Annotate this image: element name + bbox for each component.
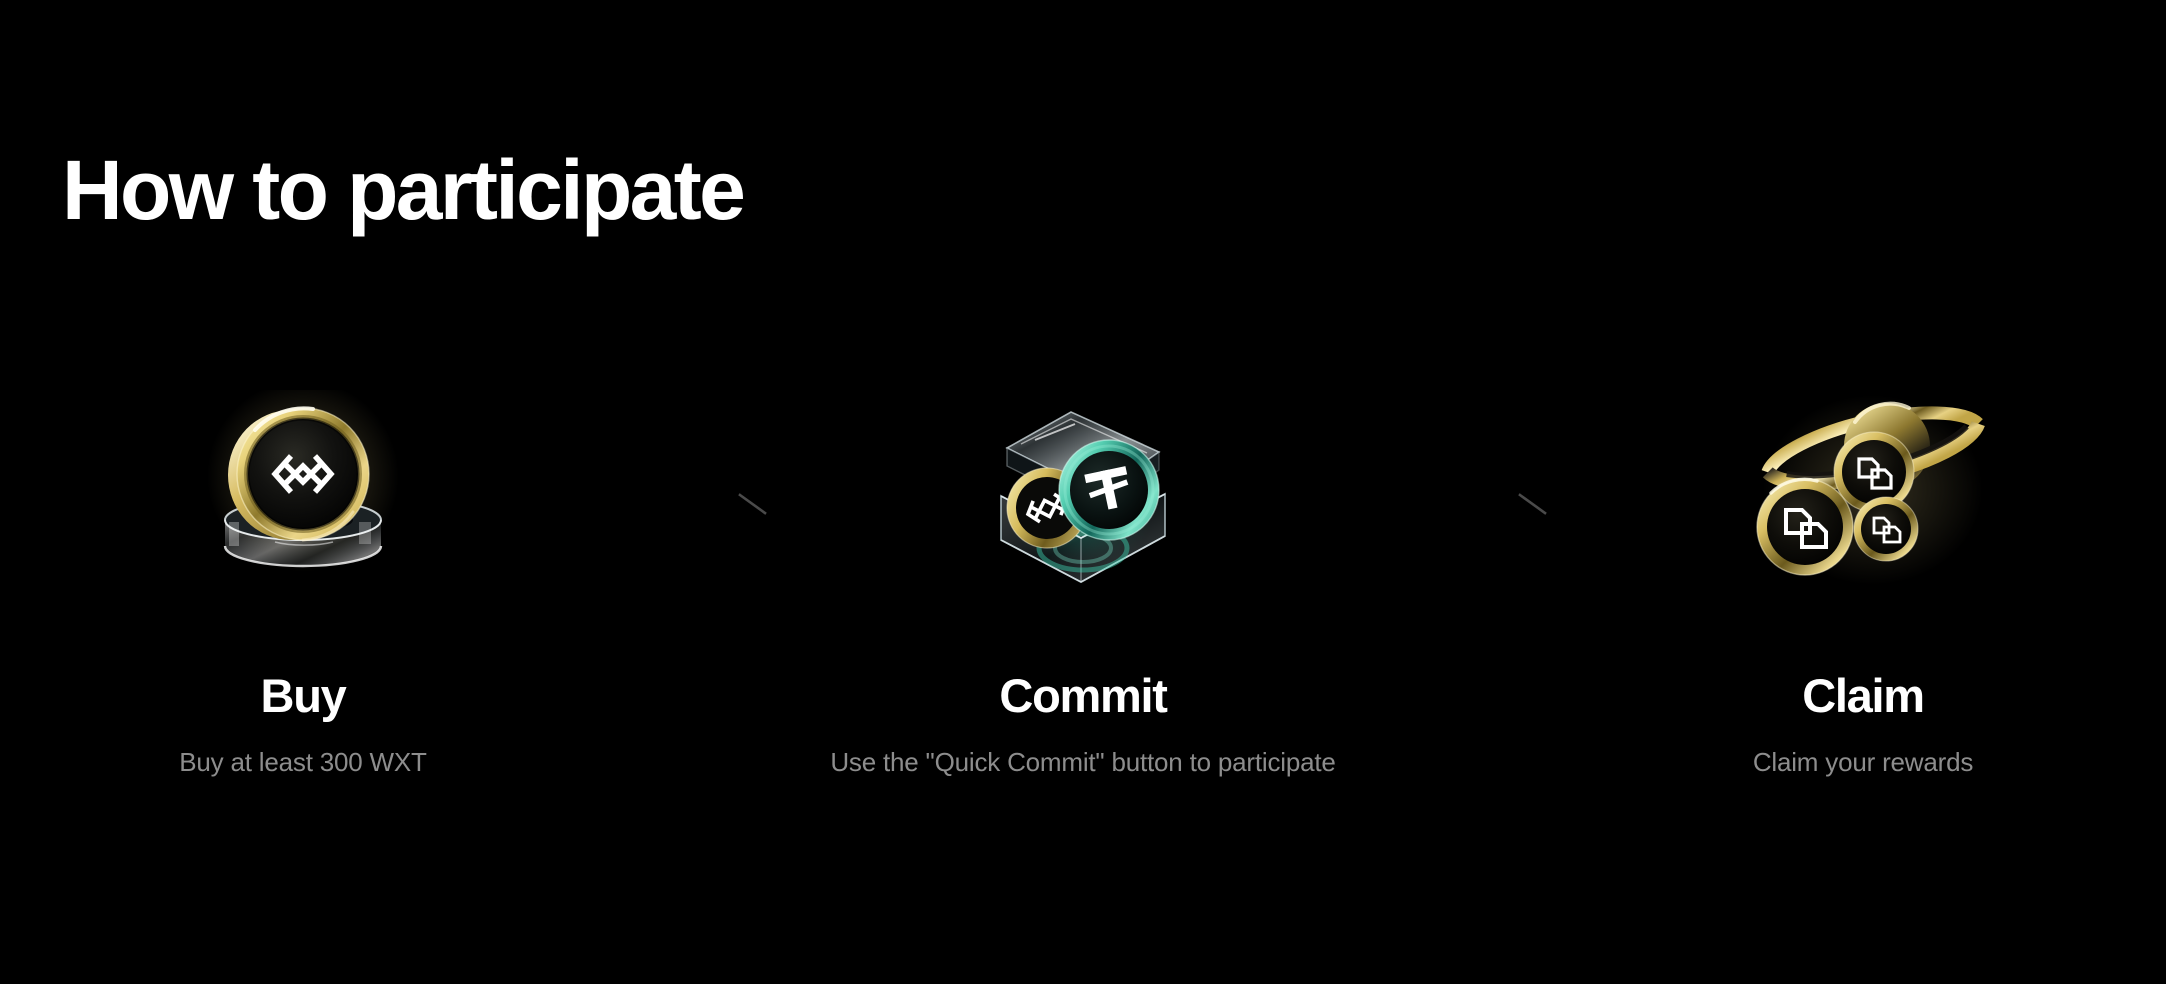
step-commit-description: Use the "Quick Commit" button to partici… (830, 747, 1335, 778)
reward-coin-1 (1757, 479, 1853, 575)
step-buy-description: Buy at least 300 WXT (179, 747, 426, 778)
step-commit-title: Commit (999, 672, 1166, 719)
step-claim-description: Claim your rewards (1753, 747, 1973, 778)
step-claim[interactable]: Claim Claim your rewards (1563, 390, 2163, 778)
step-claim-art (1723, 390, 2003, 620)
connector-2 (1383, 390, 1563, 620)
step-buy-title: Buy (261, 672, 346, 719)
step-commit[interactable]: Commit Use the "Quick Commit" button to … (783, 390, 1383, 778)
connector-1 (603, 390, 783, 620)
step-buy[interactable]: Buy Buy at least 300 WXT (3, 390, 603, 778)
steps-row: Buy Buy at least 300 WXT (0, 390, 2166, 880)
gold-ring-with-coins-icon (1723, 390, 2003, 620)
arrow-right-icon (618, 492, 768, 518)
step-buy-art (163, 390, 443, 620)
arrow-right-icon (1398, 492, 1548, 518)
step-claim-title: Claim (1802, 672, 1924, 719)
reward-coin-2 (1854, 497, 1918, 561)
page-title: How to participate (62, 148, 743, 232)
gold-coin-on-pedestal-icon (163, 390, 443, 620)
open-glass-chest-with-coins-icon (943, 390, 1223, 620)
step-commit-art (943, 390, 1223, 620)
